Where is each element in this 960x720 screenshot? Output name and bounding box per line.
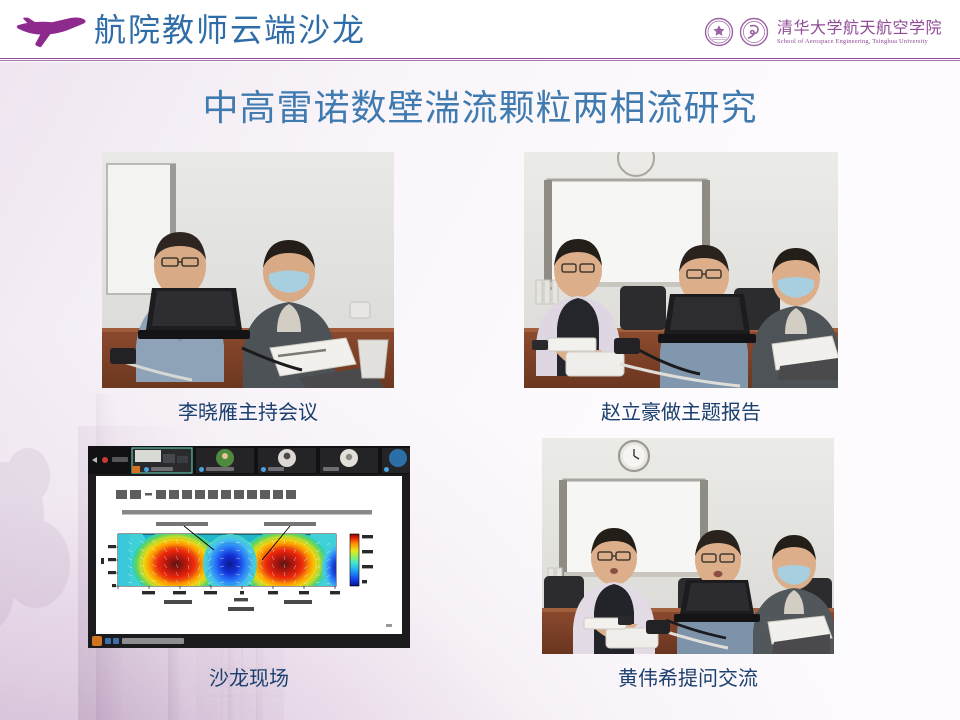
- photo-1-image: [102, 152, 394, 388]
- photo-zhao-lihao-report: [524, 152, 838, 388]
- brand-title: 航院教师云端沙龙: [94, 7, 366, 53]
- photo-1-caption: 李晓雁主持会议: [102, 399, 394, 425]
- participant-thumb-active: [132, 448, 192, 473]
- university-name-cn: 清华大学航天航空学院: [777, 18, 942, 37]
- slide-root: 航院教师云端沙龙 清华大学航天航空学院 School of Aerospace …: [0, 0, 960, 720]
- photo-4-image: [542, 438, 834, 654]
- participant-thumb-3: [258, 448, 316, 473]
- wall-clock-icon: [619, 441, 649, 471]
- school-emblem-icon: [739, 17, 769, 47]
- photo-3-image: [88, 446, 410, 648]
- university-name-en: School of Aerospace Engineering, Tsinghu…: [777, 37, 942, 46]
- photo-li-xiaoyan-hosting: [102, 152, 394, 388]
- page-title: 中高雷诺数壁湍流颗粒两相流研究: [0, 86, 960, 132]
- participant-thumb-2: [196, 448, 254, 473]
- photo-4-caption: 黄伟希提问交流: [542, 665, 834, 691]
- university-logo: 清华大学航天航空学院 School of Aerospace Engineeri…: [704, 13, 942, 51]
- participant-thumb-5: [382, 448, 410, 473]
- university-text: 清华大学航天航空学院 School of Aerospace Engineeri…: [777, 18, 942, 46]
- photo-zoom-screen-share: [88, 446, 410, 648]
- colorbar: [350, 534, 359, 586]
- page-header: 航院教师云端沙龙 清华大学航天航空学院 School of Aerospace …: [0, 0, 960, 60]
- photo-2-image: [524, 152, 838, 388]
- participant-thumb-4: [320, 448, 378, 473]
- header-divider-rule: [0, 58, 960, 62]
- slide-page-number: [386, 624, 392, 627]
- photo-3-caption: 沙龙现场: [88, 665, 410, 691]
- photo-2-caption: 赵立豪做主题报告: [524, 399, 838, 425]
- airplane-icon: [14, 13, 88, 49]
- photo-huang-weixi-question: [542, 438, 834, 654]
- tsinghua-seal-icon: [704, 17, 734, 47]
- shared-slide-subtitle: [122, 510, 372, 515]
